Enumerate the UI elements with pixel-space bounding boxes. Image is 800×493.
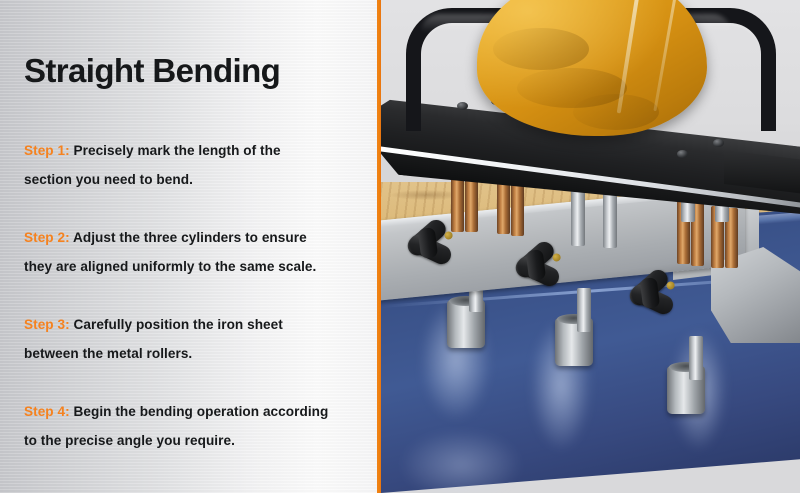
step-label: Step 1: — [24, 143, 70, 158]
beam-bolt-icon — [713, 139, 724, 147]
cylinder-shaft — [577, 288, 591, 332]
copper-guide-rod — [451, 176, 464, 232]
step-first-line: Step 3: Carefully position the iron shee… — [24, 310, 360, 339]
step-text: Adjust the three cylinders to ensure — [73, 230, 307, 245]
step-item: Step 2: Adjust the three cylinders to en… — [24, 223, 360, 281]
step-label: Step 2: — [24, 230, 70, 245]
steps-list: Step 1: Precisely mark the length of the… — [24, 136, 360, 455]
step-second-line: between the metal rollers. — [24, 339, 360, 368]
step-label: Step 3: — [24, 317, 70, 332]
copper-guide-rod — [465, 176, 478, 232]
cylinder-shaft — [689, 336, 703, 380]
step-text: Precisely mark the length of the — [74, 143, 281, 158]
beam-bolt-icon — [677, 150, 688, 158]
step-item: Step 3: Carefully position the iron shee… — [24, 310, 360, 368]
instructions-panel: Straight Bending Step 1: Precisely mark … — [0, 0, 377, 493]
step-text: Begin the bending operation according — [74, 404, 329, 419]
step-item: Step 1: Precisely mark the length of the… — [24, 136, 360, 194]
step-first-line: Step 1: Precisely mark the length of the — [24, 136, 360, 165]
copper-guide-rod — [497, 178, 510, 234]
yellow-work-glove — [477, 0, 707, 136]
step-label: Step 4: — [24, 404, 70, 419]
adjustment-wing-knob[interactable] — [624, 265, 675, 314]
adjustment-wing-knob[interactable] — [510, 237, 561, 286]
vertical-divider — [377, 0, 381, 493]
product-instruction-banner: Straight Bending Step 1: Precisely mark … — [0, 0, 800, 493]
product-photo — [381, 0, 800, 493]
step-first-line: Step 2: Adjust the three cylinders to en… — [24, 223, 360, 252]
step-second-line: they are aligned uniformly to the same s… — [24, 252, 360, 281]
step-item: Step 4: Begin the bending operation acco… — [24, 397, 360, 455]
page-title: Straight Bending — [24, 51, 280, 91]
step-second-line: to the precise angle you require. — [24, 426, 360, 455]
step-text: Carefully position the iron sheet — [74, 317, 283, 332]
step-second-line: section you need to bend. — [24, 165, 360, 194]
adjustment-wing-knob[interactable] — [402, 215, 453, 264]
step-first-line: Step 4: Begin the bending operation acco… — [24, 397, 360, 426]
blue-reflection — [401, 430, 521, 493]
